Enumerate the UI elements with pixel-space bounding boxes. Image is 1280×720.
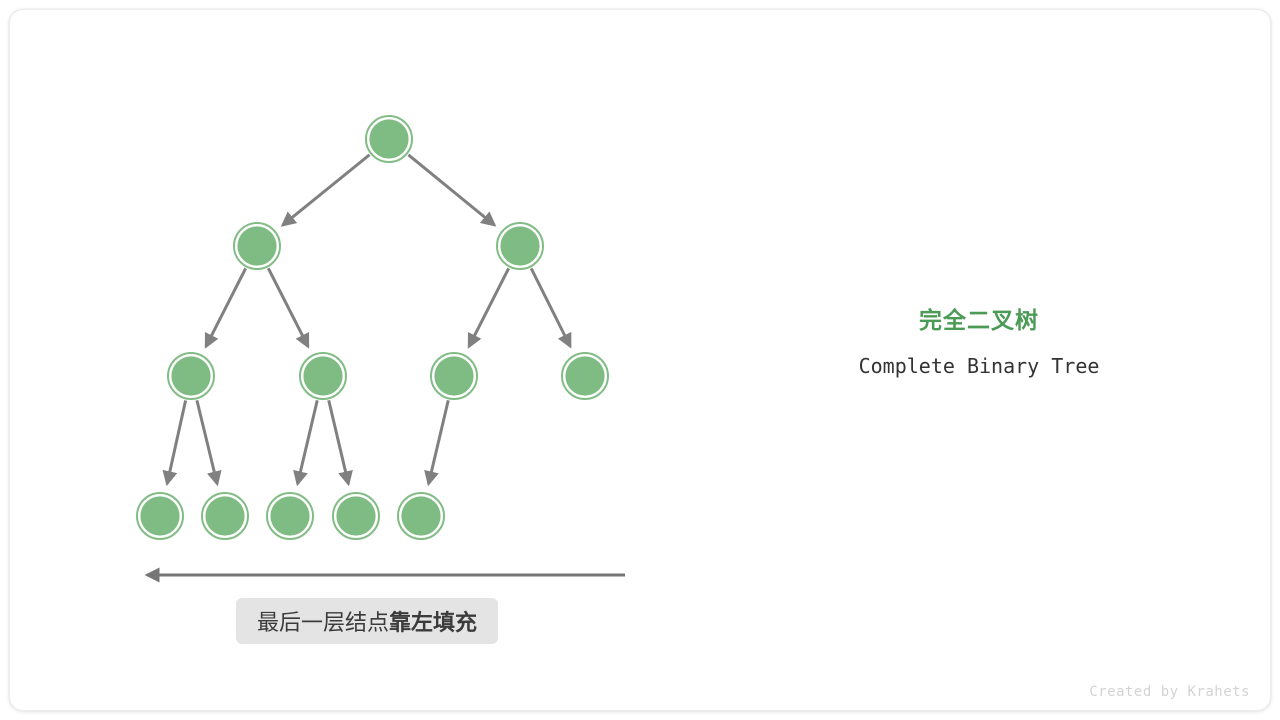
- tree-node: [431, 353, 477, 399]
- legend-subtitle: Complete Binary Tree: [779, 352, 1179, 380]
- tree-edge: [268, 268, 308, 346]
- tree-edge: [167, 400, 185, 483]
- tree-edge: [206, 268, 246, 346]
- tree-edge: [469, 268, 509, 346]
- caption-text: 最后一层结点靠左填充: [257, 605, 477, 637]
- tree-node: [497, 223, 543, 269]
- legend-block: 完全二叉树 Complete Binary Tree: [779, 305, 1179, 380]
- tree-edge: [283, 155, 370, 225]
- tree-node: [333, 493, 379, 539]
- tree-node-fill: [336, 496, 375, 535]
- tree-node-fill: [140, 496, 179, 535]
- tree-edge: [298, 400, 318, 484]
- tree-node: [137, 493, 183, 539]
- tree-node: [234, 223, 280, 269]
- tree-node: [562, 353, 608, 399]
- tree-edge: [197, 400, 217, 484]
- tree-node-fill: [565, 356, 604, 395]
- tree-node-fill: [303, 356, 342, 395]
- tree-node: [202, 493, 248, 539]
- tree-edge: [531, 268, 570, 346]
- tree-node: [168, 353, 214, 399]
- tree-node-fill: [270, 496, 309, 535]
- caption-pill: 最后一层结点靠左填充: [236, 598, 498, 644]
- credit-label: Created by Krahets: [970, 684, 1250, 700]
- tree-node: [300, 353, 346, 399]
- tree-node-fill: [401, 496, 440, 535]
- tree-node-fill: [237, 226, 276, 265]
- tree-edge: [329, 400, 349, 484]
- tree-node-fill: [171, 356, 210, 395]
- tree-node-fill: [434, 356, 473, 395]
- diagram-canvas: 完全二叉树 Complete Binary Tree 最后一层结点靠左填充 Cr…: [0, 0, 1280, 720]
- tree-node: [366, 116, 412, 162]
- tree-edge: [408, 155, 494, 225]
- caption-text-bold: 靠左填充: [389, 610, 477, 635]
- tree-node-fill: [369, 119, 408, 158]
- tree-edge: [429, 400, 449, 484]
- tree-node: [398, 493, 444, 539]
- tree-edge-layer: [167, 155, 570, 484]
- caption-text-normal: 最后一层结点: [257, 610, 389, 635]
- tree-node: [267, 493, 313, 539]
- tree-node-fill: [500, 226, 539, 265]
- tree-node-fill: [205, 496, 244, 535]
- tree-node-layer: [137, 116, 608, 539]
- slide-card: 完全二叉树 Complete Binary Tree 最后一层结点靠左填充 Cr…: [9, 9, 1271, 711]
- legend-title: 完全二叉树: [779, 305, 1179, 335]
